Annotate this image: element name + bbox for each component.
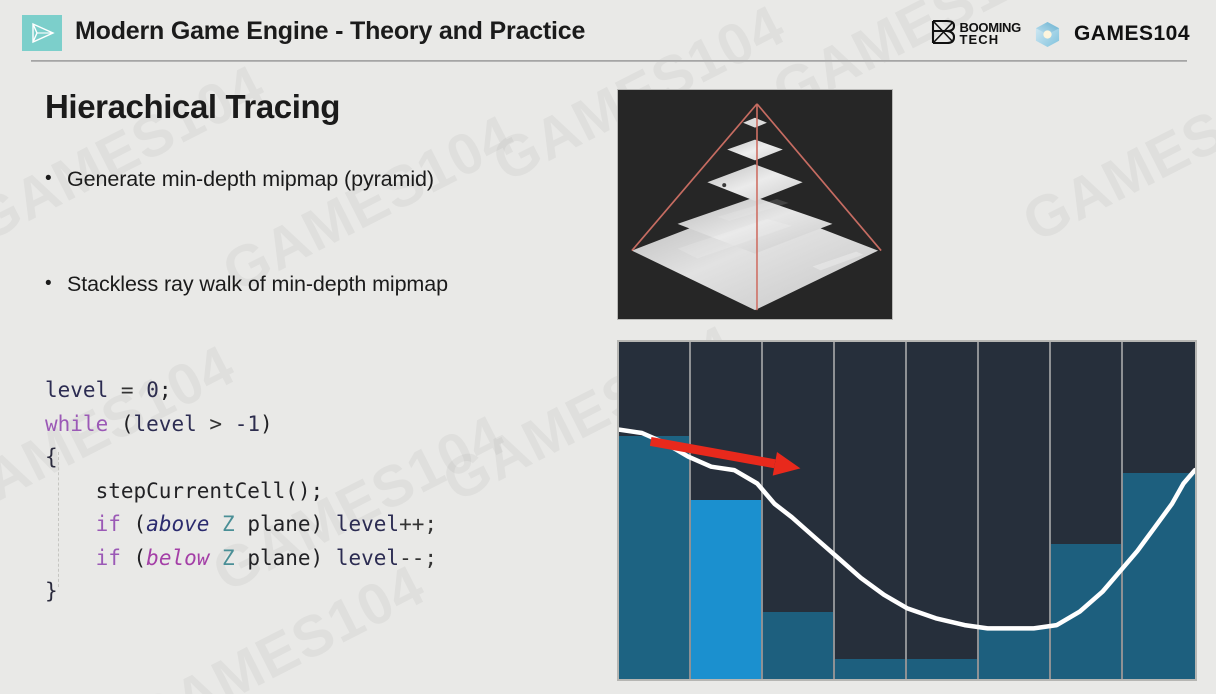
code-token: --;	[399, 546, 437, 570]
bullet-dot-icon: •	[45, 164, 67, 194]
code-token: ++;	[399, 512, 437, 536]
code-line: if (above Z plane) level++;	[45, 508, 437, 542]
booming-line-2: TECH	[960, 34, 1021, 46]
games104-cube-icon	[1034, 21, 1061, 48]
code-token: ;	[159, 378, 172, 402]
ray-walk-chart	[617, 340, 1197, 681]
code-token: -1	[235, 412, 260, 436]
watermark-text: GAMES104	[1012, 52, 1216, 256]
code-token: below	[146, 546, 209, 570]
ray-direction-arrow	[619, 342, 1195, 679]
code-line: {	[45, 441, 437, 475]
code-token	[108, 378, 121, 402]
code-token: if	[96, 512, 121, 536]
mipmap-pyramid-figure	[617, 89, 893, 320]
code-token: }	[45, 579, 58, 603]
booming-tech-logo: BOOMING TECH	[931, 19, 1021, 50]
code-token: level	[134, 412, 197, 436]
code-token	[222, 412, 235, 436]
code-token	[209, 546, 222, 570]
arrow-shaft	[651, 441, 775, 463]
code-token	[134, 378, 147, 402]
code-token: Z	[222, 512, 235, 536]
code-token: =	[121, 378, 134, 402]
code-token: if	[96, 546, 121, 570]
code-line: }	[45, 575, 437, 609]
header-logos: BOOMING TECH	[931, 18, 1191, 50]
bullet-text: Generate min-depth mipmap (pyramid)	[67, 164, 434, 194]
header-divider	[31, 60, 1187, 62]
code-token: 0	[146, 378, 159, 402]
code-token: ();	[285, 479, 323, 503]
code-line: if (below Z plane) level--;	[45, 542, 437, 576]
booming-b-icon	[931, 19, 955, 50]
bullet-text: Stackless ray walk of min-depth mipmap	[67, 269, 448, 299]
code-line: while (level > -1)	[45, 408, 437, 442]
code-token: level	[336, 512, 399, 536]
code-token	[45, 546, 96, 570]
code-token: above	[146, 512, 209, 536]
code-line: level = 0;	[45, 374, 437, 408]
arrow-head	[773, 452, 801, 476]
bullet-list: • Generate min-depth mipmap (pyramid) • …	[45, 164, 585, 374]
code-token: Z	[222, 546, 235, 570]
list-item: • Stackless ray walk of min-depth mipmap	[45, 269, 585, 299]
code-token: >	[209, 412, 222, 436]
code-token: )	[260, 412, 273, 436]
play-triangle-icon	[22, 15, 62, 51]
code-token: stepCurrentCell	[96, 479, 286, 503]
slide-header: Modern Game Engine - Theory and Practice…	[0, 0, 1216, 62]
deck-title: Modern Game Engine - Theory and Practice	[75, 17, 585, 46]
code-token	[209, 512, 222, 536]
bullet-dot-icon: •	[45, 269, 67, 299]
code-block: level = 0;while (level > -1){ stepCurren…	[45, 374, 437, 609]
code-token: (	[108, 412, 133, 436]
code-token: plane)	[235, 512, 336, 536]
games104-wordmark: GAMES104	[1074, 22, 1190, 46]
code-token: while	[45, 412, 108, 436]
code-line: stepCurrentCell();	[45, 475, 437, 509]
page-title: Hierachical Tracing	[45, 88, 340, 126]
code-token: level	[336, 546, 399, 570]
code-token: level	[45, 378, 108, 402]
booming-tech-wordmark: BOOMING TECH	[960, 22, 1021, 46]
code-token	[45, 512, 96, 536]
code-token: (	[121, 546, 146, 570]
code-token: (	[121, 512, 146, 536]
code-token	[45, 479, 96, 503]
code-token: plane)	[235, 546, 336, 570]
list-item: • Generate min-depth mipmap (pyramid)	[45, 164, 585, 194]
slide-canvas: GAMES104 GAMES104 GAMES104 GAMES104 GAME…	[0, 0, 1216, 694]
code-token: {	[45, 445, 58, 469]
code-token	[197, 412, 210, 436]
